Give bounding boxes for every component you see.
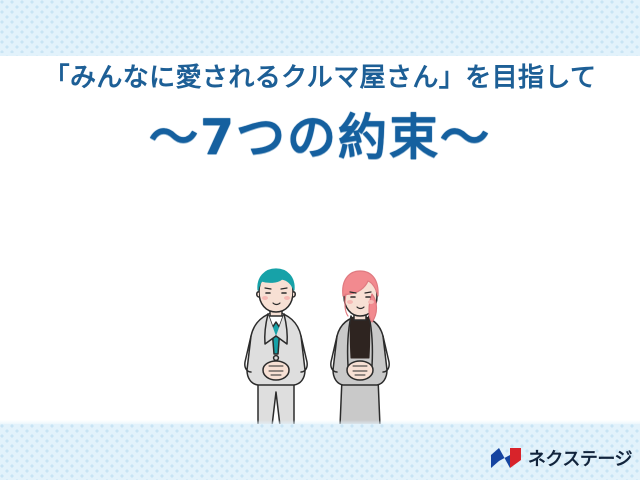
headline-secondary: 〜7つの約束〜 xyxy=(0,111,640,165)
headline-block: 「みんなに愛されるクルマ屋さん」を目指して 〜7つの約束〜 xyxy=(0,62,640,164)
brand-name: ネクステージ xyxy=(528,445,632,471)
headline-primary: 「みんなに愛されるクルマ屋さん」を目指して xyxy=(0,62,640,95)
top-dot-band xyxy=(0,0,640,56)
brand-logo: ネクステージ xyxy=(490,444,632,472)
two-bowing-staff-illustration xyxy=(238,266,414,430)
female-staff-figure xyxy=(331,271,389,426)
nextage-n-mark xyxy=(490,447,522,469)
promo-banner: 「みんなに愛されるクルマ屋さん」を目指して 〜7つの約束〜 xyxy=(0,0,640,480)
male-staff-figure xyxy=(245,269,307,426)
